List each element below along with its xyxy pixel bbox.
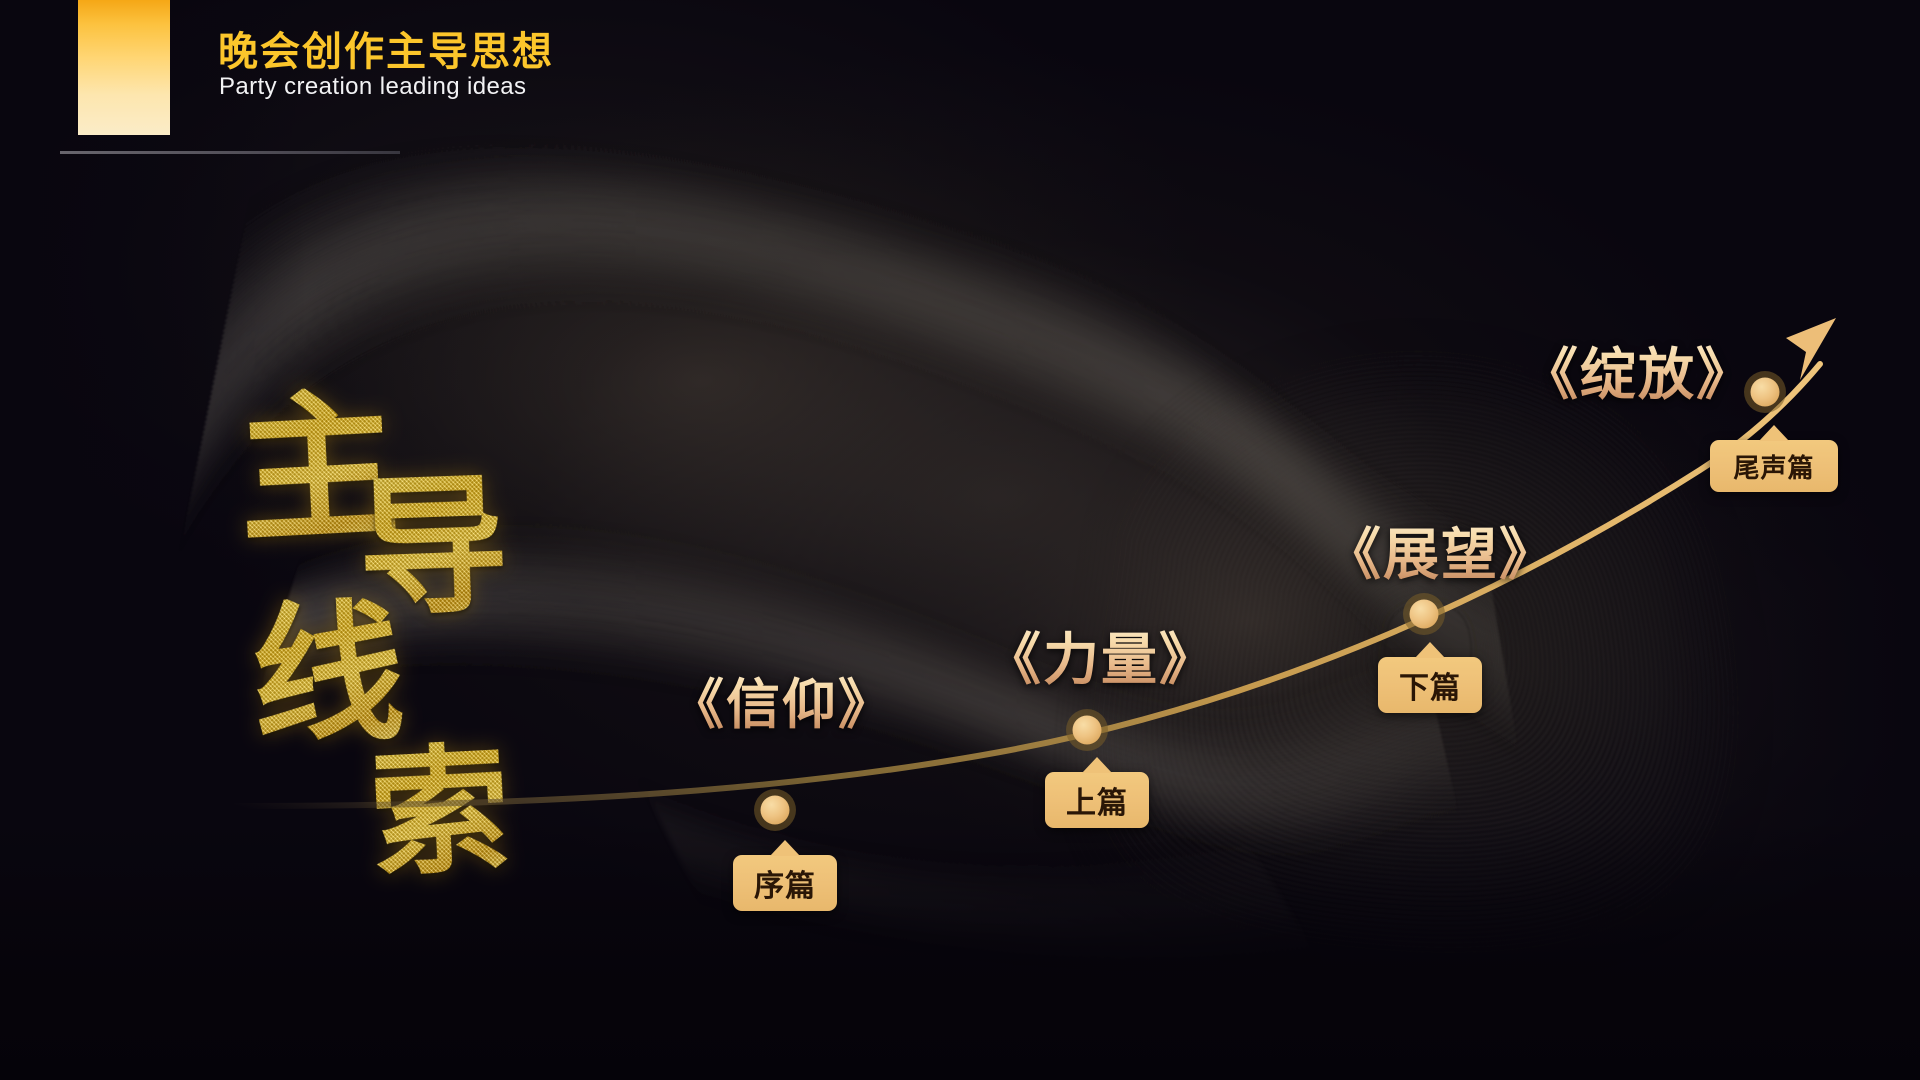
chapter-tag-label: 序篇: [754, 861, 816, 905]
chapter-title-part1: 《力量》: [985, 615, 1217, 696]
chapter-title-prologue: 《信仰》: [670, 660, 894, 739]
slide-canvas: 晚会创作主导思想 Party creation leading ideas 主 …: [0, 0, 1920, 1080]
chapter-title-epilogue: 《绽放》: [1522, 330, 1754, 411]
timeline-node-part2[interactable]: [1410, 600, 1439, 629]
tag-pointer-icon: [770, 840, 800, 856]
chapter-tag-label: 上篇: [1066, 778, 1128, 822]
tag-pointer-icon: [1759, 425, 1789, 441]
chapter-tag-part2[interactable]: 下篇: [1378, 657, 1482, 713]
chapter-tag-prologue[interactable]: 序篇: [733, 855, 837, 911]
chapter-title-part2: 《展望》: [1325, 510, 1557, 591]
timeline-node-part1[interactable]: [1073, 716, 1102, 745]
timeline-curve: [0, 0, 1920, 1080]
timeline-node-epilogue[interactable]: [1751, 378, 1780, 407]
chapter-tag-label: 尾声篇: [1733, 448, 1814, 485]
chapter-tag-label: 下篇: [1399, 663, 1461, 707]
tag-pointer-icon: [1415, 642, 1445, 658]
timeline-node-prologue[interactable]: [761, 796, 790, 825]
chapter-tag-epilogue[interactable]: 尾声篇: [1710, 440, 1838, 492]
tag-pointer-icon: [1082, 757, 1112, 773]
timeline-path: [236, 364, 1820, 806]
chapter-tag-part1[interactable]: 上篇: [1045, 772, 1149, 828]
